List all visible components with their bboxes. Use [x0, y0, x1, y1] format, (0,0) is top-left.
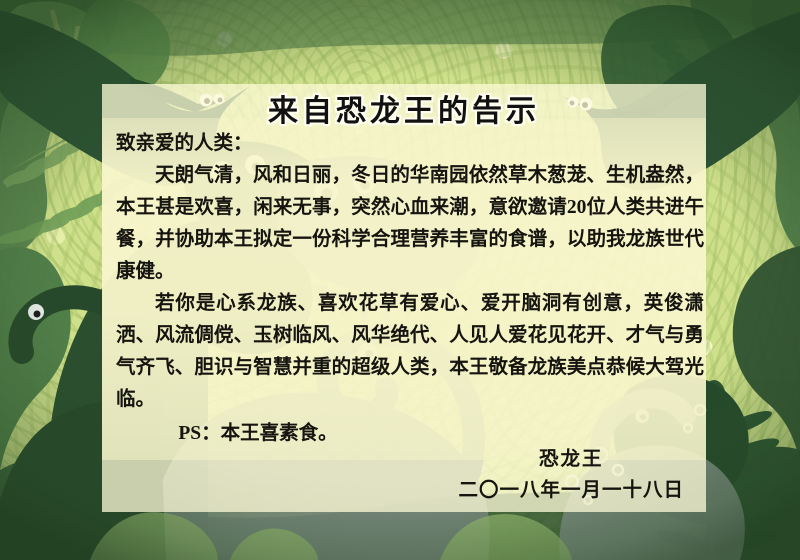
letter-body: 致亲爱的人类： 天朗气清，风和日丽，冬日的华南园依然草木葱茏、生机盎然，本王甚是… [116, 128, 704, 450]
signature-block: 恐龙王 二〇一八年一月一十八日 [458, 444, 684, 506]
letter-content: 来自恐龙王的告示 致亲爱的人类： 天朗气清，风和日丽，冬日的华南园依然草木葱茏、… [102, 84, 706, 512]
paragraph-two: 若你是心系龙族、喜欢花草有爱心、爱开脑洞有创意，英俊潇洒、风流倜傥、玉树临风、风… [116, 288, 704, 416]
foliage-right [690, 0, 800, 560]
monstera-leaf-top-left-2 [76, 0, 170, 96]
monstera-leaf-top-left [0, 1, 108, 102]
foliage-fringe-bottom [90, 512, 572, 560]
signature-name: 恐龙王 [458, 444, 684, 475]
salutation-line: 致亲爱的人类： [116, 128, 704, 160]
signature-date: 二〇一八年一月一十八日 [458, 475, 684, 506]
poster-canvas: 来自恐龙王的告示 致亲爱的人类： 天朗气清，风和日丽，冬日的华南园依然草木葱茏、… [0, 0, 800, 560]
paragraph-one: 天朗气清，风和日丽，冬日的华南园依然草木葱茏、生机盎然，本王甚是欢喜，闲来无事，… [116, 160, 704, 288]
page-title: 来自恐龙王的告示 [102, 86, 706, 130]
